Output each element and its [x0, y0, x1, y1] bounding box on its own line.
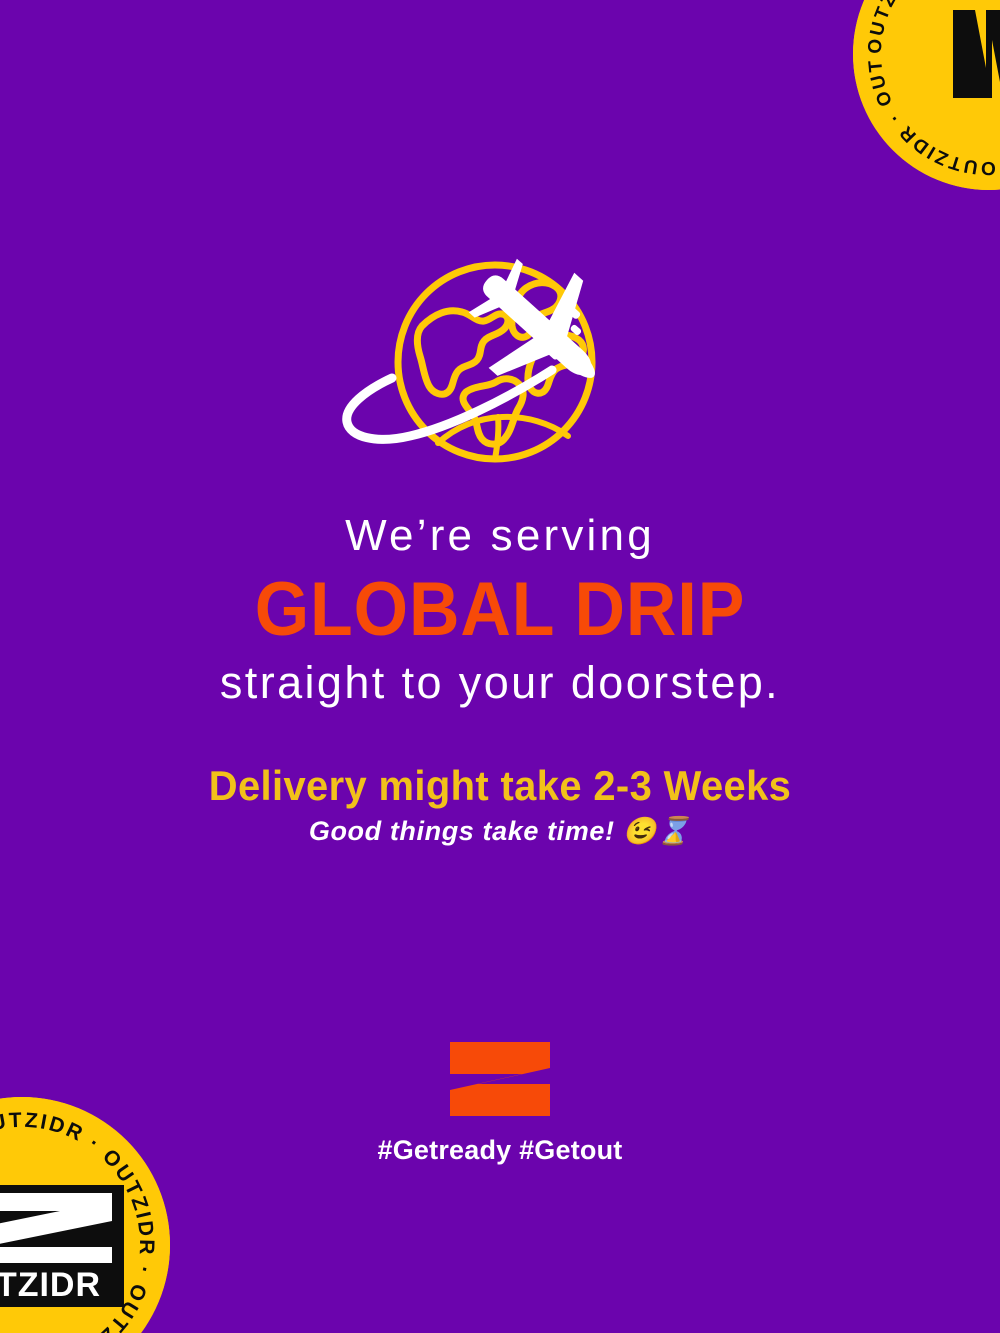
- serving-line: We’re serving: [0, 512, 1000, 560]
- delivery-notice: Delivery might take 2-3 Weeks: [25, 762, 975, 810]
- globe-airplane-icon: [330, 250, 670, 480]
- seal-wordmark: OUTZIDR: [0, 1266, 101, 1304]
- seal-plaque: OUTZIDR: [0, 1185, 124, 1307]
- outzidr-z-logo-icon: [448, 1040, 552, 1118]
- outzidr-seal-bottom-left: OUTZIDR · OUTZIDR · OUTZIDR · OUTZIDR · …: [0, 1097, 170, 1333]
- doorstep-line: straight to your doorstep.: [0, 658, 1000, 708]
- page-title: GLOBAL DRIP: [40, 566, 960, 653]
- outzidr-seal-top-right: OUTZIDR · OUTZIDR · OUTZIDR · OUTZIDR · …: [853, 0, 1000, 190]
- promo-poster: We’re serving GLOBAL DRIP straight to yo…: [0, 0, 1000, 1333]
- tagline: Good things take time! 😉⌛: [0, 814, 1000, 849]
